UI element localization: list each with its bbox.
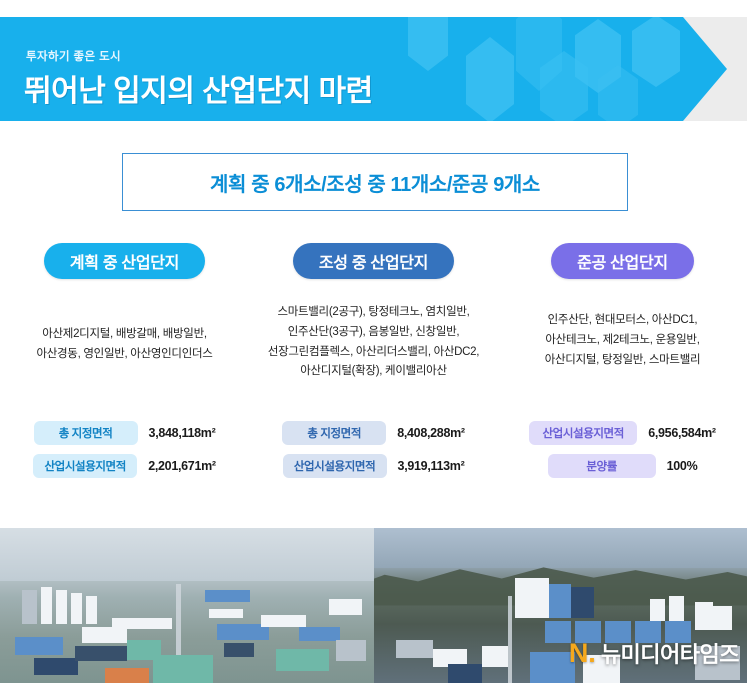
building	[153, 655, 213, 683]
building	[71, 593, 82, 624]
stat-value: 100%	[667, 459, 698, 473]
column-body-building: 스마트밸리(2공구), 탕정테크노, 염치일반, 인주산단(3공구), 음봉일반…	[249, 279, 498, 382]
building	[112, 618, 172, 629]
column-completed: 준공 산업단지 인주산단, 현대모터스, 아산DC1, 아산테크노, 제2테크노…	[498, 243, 747, 511]
stat-label: 총 지정면적	[282, 421, 386, 445]
column-header-planned: 계획 중 산업단지	[44, 243, 205, 279]
stat-label: 산업시설용지면적	[33, 454, 137, 478]
body-line: 아산디지털(확장), 케이밸리아산	[249, 362, 498, 382]
building	[41, 587, 52, 624]
stat-row: 총 지정면적 3,848,118m²	[0, 421, 249, 445]
building	[86, 596, 97, 624]
newmediatimes-logo-icon: N.	[569, 640, 596, 667]
summary-text: 계획 중 6개소/조성 중 11개소/준공 9개소	[210, 168, 540, 197]
building	[396, 640, 433, 659]
building	[669, 596, 684, 621]
industrial-complex-columns: 계획 중 산업단지 아산제2디지털, 배방갈매, 배방일반, 아산경동, 영인일…	[0, 243, 747, 511]
column-header-completed: 준공 산업단지	[551, 243, 694, 279]
building	[713, 606, 732, 631]
header-banner: 투자하기 좋은 도시 뛰어난 입지의 산업단지 마련	[0, 17, 727, 121]
stat-value: 2,201,671m²	[148, 459, 216, 473]
stats-completed: 산업시설용지면적 6,956,584m² 분양률 100%	[498, 421, 747, 511]
building	[549, 584, 571, 618]
building	[105, 668, 150, 683]
stats-planned: 총 지정면적 3,848,118m² 산업시설용지면적 2,201,671m²	[0, 421, 249, 511]
photo-strip: N. 뉴미디어타임즈	[0, 528, 747, 683]
building	[82, 627, 127, 643]
body-line: 아산디지털, 탕정일반, 스마트밸리	[498, 351, 747, 371]
summary-banner: 계획 중 6개소/조성 중 11개소/준공 9개소	[122, 153, 628, 211]
column-planned: 계획 중 산업단지 아산제2디지털, 배방갈매, 배방일반, 아산경동, 영인일…	[0, 243, 249, 511]
stat-value: 6,956,584m²	[648, 426, 716, 440]
building	[650, 599, 665, 621]
building	[299, 627, 340, 641]
building	[545, 621, 571, 643]
column-building: 조성 중 산업단지 스마트밸리(2공구), 탕정테크노, 염치일반, 인주산단(…	[249, 243, 498, 511]
sky-region	[0, 528, 374, 581]
page-title: 뛰어난 입지의 산업단지 마련	[24, 66, 373, 110]
building	[75, 646, 127, 662]
building	[695, 602, 714, 630]
building	[209, 609, 243, 618]
stat-label: 총 지정면적	[34, 421, 138, 445]
sky-region	[374, 528, 747, 568]
road	[508, 596, 512, 683]
building	[276, 649, 328, 671]
building	[336, 640, 366, 662]
body-line: 아산경동, 영인일반, 아산영인디인더스	[0, 345, 249, 365]
building	[34, 658, 79, 675]
stat-row: 산업시설용지면적 6,956,584m²	[498, 421, 747, 445]
building	[22, 590, 37, 624]
body-line: 스마트밸리(2공구), 탕정테크노, 염치일반,	[249, 303, 498, 323]
watermark-text: 뉴미디어타임즈	[601, 637, 739, 669]
stats-building: 총 지정면적 8,408,288m² 산업시설용지면적 3,919,113m²	[249, 421, 498, 511]
hexagon-icon	[408, 17, 448, 71]
stat-label: 분양률	[548, 454, 656, 478]
body-line: 선장그린컴플렉스, 아산리더스밸리, 아산DC2,	[249, 343, 498, 363]
stat-row: 총 지정면적 8,408,288m²	[249, 421, 498, 445]
building	[224, 643, 254, 657]
stat-row: 분양률 100%	[498, 454, 747, 478]
stat-row: 산업시설용지면적 2,201,671m²	[0, 454, 249, 478]
aerial-photo-tech-campus: N. 뉴미디어타임즈	[374, 528, 747, 683]
hexagon-icon	[632, 17, 680, 87]
building	[448, 664, 482, 683]
building	[482, 646, 508, 668]
header-banner-area: 투자하기 좋은 도시 뛰어난 입지의 산업단지 마련	[0, 17, 747, 121]
stat-label: 산업시설용지면적	[529, 421, 637, 445]
body-line: 인주산단(3공구), 음봉일반, 신창일반,	[249, 323, 498, 343]
column-header-building: 조성 중 산업단지	[293, 243, 454, 279]
building	[515, 578, 549, 618]
building	[329, 599, 363, 615]
building	[205, 590, 250, 602]
aerial-photo-industrial-park	[0, 528, 374, 683]
column-body-planned: 아산제2디지털, 배방갈매, 배방일반, 아산경동, 영인일반, 아산영인디인더…	[0, 279, 249, 365]
header-eyebrow: 투자하기 좋은 도시	[26, 48, 121, 64]
stat-label: 산업시설용지면적	[283, 454, 387, 478]
building	[15, 637, 64, 656]
stat-row: 산업시설용지면적 3,919,113m²	[249, 454, 498, 478]
hexagon-icon	[466, 37, 514, 121]
building	[571, 587, 593, 618]
stat-value: 8,408,288m²	[397, 426, 465, 440]
body-line: 아산제2디지털, 배방갈매, 배방일반,	[0, 325, 249, 345]
watermark: N. 뉴미디어타임즈	[569, 637, 739, 669]
stat-value: 3,848,118m²	[149, 426, 216, 440]
building	[56, 590, 67, 624]
infographic-page: 투자하기 좋은 도시 뛰어난 입지의 산업단지 마련 계획 중 6개소/조성 중…	[0, 0, 747, 683]
body-line: 인주산단, 현대모터스, 아산DC1,	[498, 311, 747, 331]
body-line: 아산테크노, 제2테크노, 운용일반,	[498, 331, 747, 351]
stat-value: 3,919,113m²	[398, 459, 465, 473]
column-body-completed: 인주산단, 현대모터스, 아산DC1, 아산테크노, 제2테크노, 운용일반, …	[498, 279, 747, 370]
building	[261, 615, 306, 627]
